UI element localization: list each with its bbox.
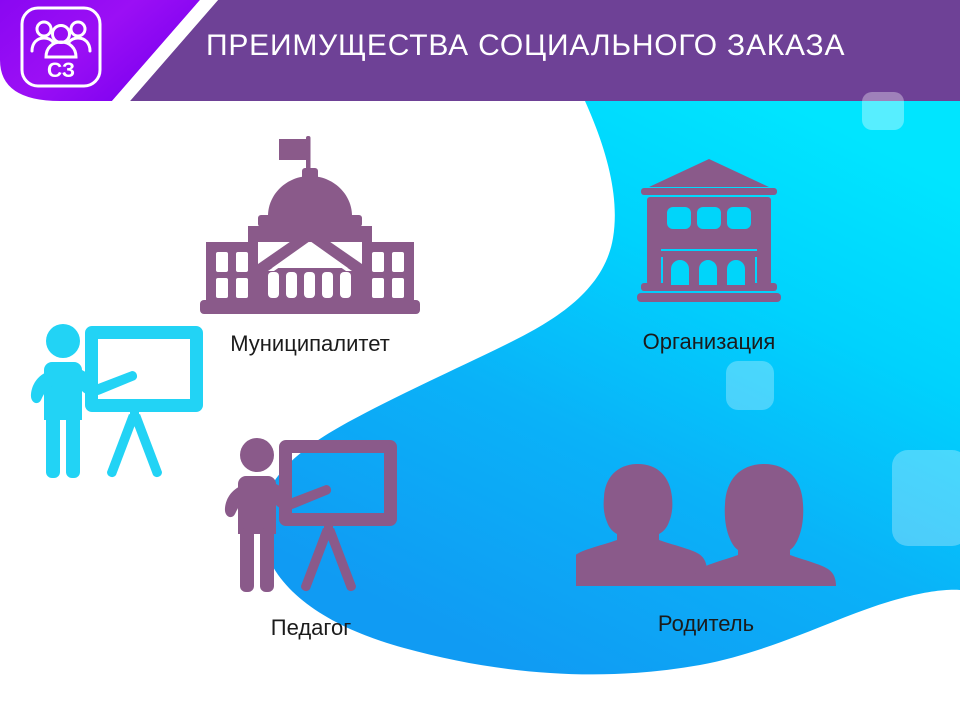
figure-label-municipality: Муниципалитет [196, 333, 424, 355]
teacher-at-whiteboard-icon [30, 318, 205, 488]
figure-label-organization: Организация [609, 331, 809, 353]
bank-building-icon [633, 155, 785, 310]
logo-abbreviation: СЗ [47, 59, 75, 82]
teacher-at-whiteboard-icon [224, 432, 399, 602]
sz-logo[interactable]: СЗ [18, 4, 104, 90]
decorative-rounded-square [892, 450, 960, 546]
figure-label-teacher: Педагог [186, 617, 436, 639]
slide-canvas: СЗ ПРЕИМУЩЕСТВА СОЦИАЛЬНОГО ЗАКАЗА [0, 0, 960, 720]
group-of-people-icon [32, 22, 90, 57]
government-building-icon [196, 132, 424, 320]
page-title: ПРЕИМУЩЕСТВА СОЦИАЛЬНОГО ЗАКАЗА [206, 29, 926, 63]
figure-label-parent: Родитель [526, 613, 886, 635]
decorative-rounded-square [726, 361, 774, 410]
two-person-silhouettes-icon [576, 460, 836, 590]
decorative-rounded-square [862, 92, 904, 130]
